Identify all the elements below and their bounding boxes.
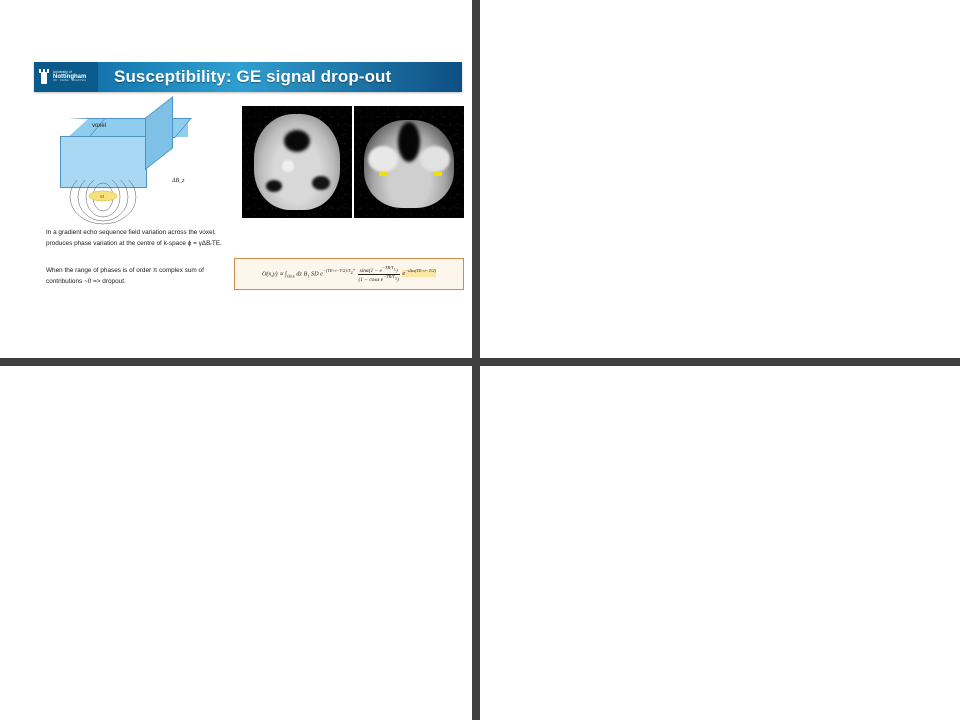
mri-image-axial-dropout xyxy=(242,106,352,218)
voxel-diagram: voxel M ΔB_z xyxy=(60,118,190,218)
page-title: Susceptibility: GE signal drop-out xyxy=(98,67,391,87)
voxel-label: voxel xyxy=(92,123,106,129)
slide-grid: University of Nottingham UK · CHINA · MA… xyxy=(0,0,960,720)
slide-panel-bottom-right[interactable]: University of Nottingham UK · CHINA · MA… xyxy=(480,366,960,720)
signal-equation-box: O(x,y) ∝ ∫slice dz B1 SD e−(TE+t−T/2)/T2… xyxy=(234,258,464,290)
svg-text:M: M xyxy=(100,194,104,199)
mri-image-temporal-dropout xyxy=(354,106,464,218)
logo-line-3: UK · CHINA · MALAYSIA xyxy=(53,80,86,83)
slide-panel-bottom-left[interactable]: University of Nottingham UK · CHINA · MA… xyxy=(0,366,472,720)
slide-panel-top-left[interactable]: University of Nottingham UK · CHINA · MA… xyxy=(0,0,472,358)
annotation-arrow-right xyxy=(434,172,442,176)
body-paragraph-2: When the range of phases is of order π c… xyxy=(46,266,226,287)
annotation-arrow-left xyxy=(379,172,387,176)
crest-icon xyxy=(38,69,50,85)
body-paragraph-1: In a gradient echo sequence field variat… xyxy=(46,228,226,249)
slide-panel-top-right[interactable]: University of Nottingham UK · CHINA · MA… xyxy=(480,0,960,358)
slide-title-banner: University of Nottingham UK · CHINA · MA… xyxy=(34,62,462,92)
dipole-field-lines: M xyxy=(60,180,190,228)
university-logo: University of Nottingham UK · CHINA · MA… xyxy=(34,62,98,92)
signal-equation: O(x,y) ∝ ∫slice dz B1 SD e−(TE+t−T/2)/T2… xyxy=(262,265,436,283)
delta-bz-label: ΔB_z xyxy=(172,178,185,184)
